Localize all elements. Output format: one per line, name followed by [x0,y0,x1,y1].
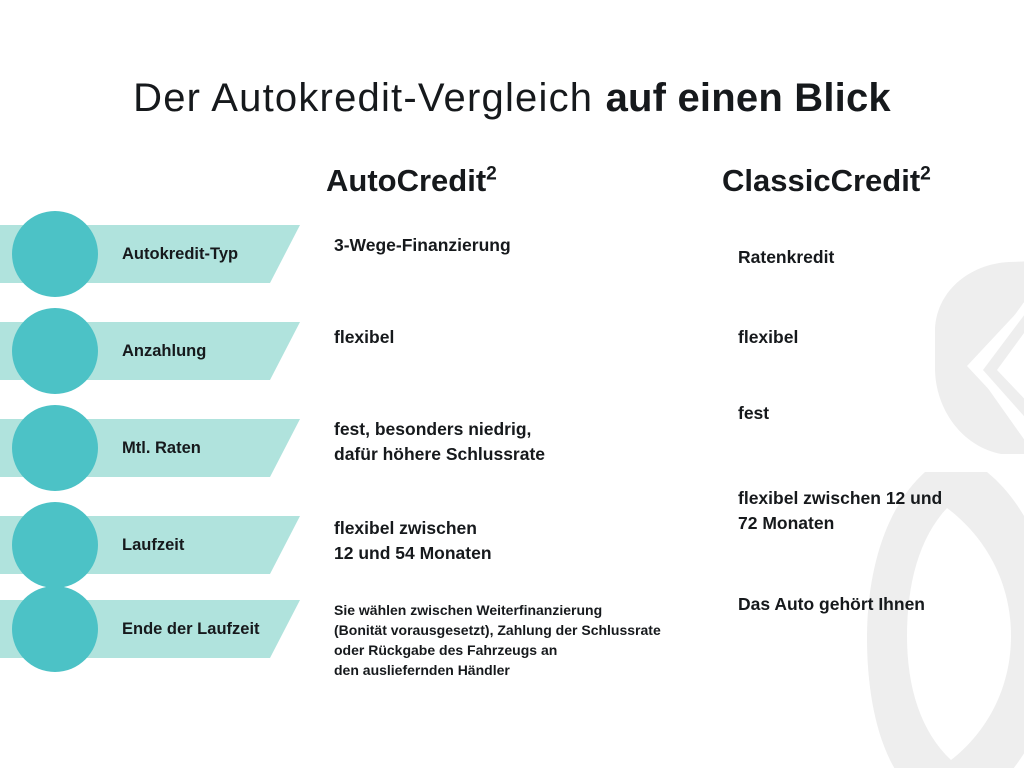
cell-classiccredit: flexibel zwischen 12 und 72 Monaten [738,486,1006,536]
cell-autocredit: flexibel zwischen 12 und 54 Monaten [334,516,724,566]
row-label: Autokredit-Typ [122,225,292,283]
column-header-autocredit-footnote: 2 [486,164,497,185]
cell-classiccredit: Ratenkredit [738,245,1006,270]
column-header-classiccredit-footnote: 2 [920,164,931,185]
comparison-infographic: Der Autokredit-Vergleich auf einen Blick… [0,0,1024,768]
cell-autocredit: 3-Wege-Finanzierung [334,233,724,258]
cell-classiccredit: fest [738,401,1006,426]
page-title-bold: auf einen Blick [606,76,891,120]
column-header-autocredit: AutoCredit2 [326,162,497,200]
row-label: Mtl. Raten [122,419,292,477]
cell-classiccredit: Das Auto gehört Ihnen [738,592,1006,617]
row-bullet-circle [12,405,98,491]
column-header-classiccredit-label: ClassicCredit [722,163,920,198]
row-bullet-circle [12,211,98,297]
row-label: Ende der Laufzeit [122,600,292,658]
cell-autocredit: flexibel [334,325,724,350]
column-header-classiccredit: ClassicCredit2 [722,162,931,200]
row-label: Anzahlung [122,322,292,380]
cell-autocredit: fest, besonders niedrig, dafür höhere Sc… [334,417,724,467]
row-label: Laufzeit [122,516,292,574]
row-bullet-circle [12,502,98,588]
cell-autocredit: Sie wählen zwischen Weiterfinanzierung (… [334,600,724,680]
table-row: Autokredit-Typ 3-Wege-Finanzierung Raten… [0,217,1024,313]
page-title-regular: Der Autokredit-Vergleich [133,76,605,120]
column-header-autocredit-label: AutoCredit [326,163,486,198]
row-bullet-circle [12,586,98,672]
table-row: Laufzeit flexibel zwischen 12 und 54 Mon… [0,508,1024,604]
table-row: Anzahlung flexibel flexibel [0,314,1024,410]
cell-classiccredit: flexibel [738,325,1006,350]
row-bullet-circle [12,308,98,394]
page-title: Der Autokredit-Vergleich auf einen Blick [0,74,1024,122]
table-row: Ende der Laufzeit Sie wählen zwischen We… [0,592,1024,688]
